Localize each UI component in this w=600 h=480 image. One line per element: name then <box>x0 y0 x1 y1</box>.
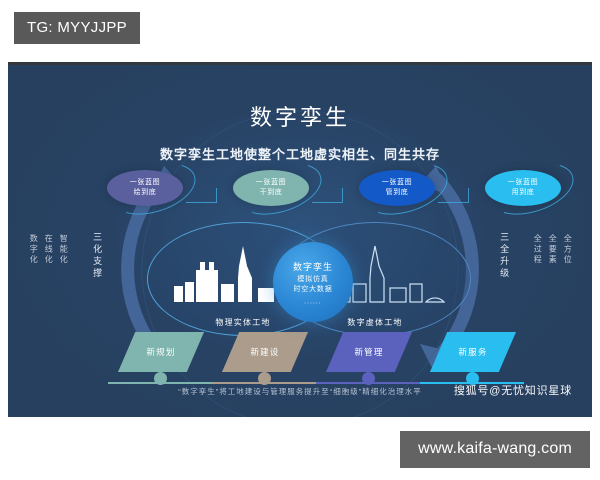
diamond-label-4: 新服务 <box>430 332 516 372</box>
pill-line-2: 绘到底 <box>134 188 157 198</box>
diamond-new-management[interactable]: 新管理 <box>320 332 416 388</box>
digital-twin-core[interactable]: 数字孪生 模拟仿真 时空大数据 •••••• <box>273 242 353 322</box>
page-title: 数字孪生 <box>8 100 592 132</box>
pill-blueprint-build[interactable]: 一张蓝图 干到底 <box>233 170 309 206</box>
left-axis-intelligent: 智能化 <box>56 234 71 266</box>
diamond-underline-1 <box>108 382 212 384</box>
website-url-badge: www.kaifa-wang.com <box>400 431 590 468</box>
infographic-poster: 数字孪生 数字孪生工地使整个工地虚实相生、同生共存 一张蓝图 绘到底 一张蓝图 … <box>8 62 592 417</box>
diamond-new-planning[interactable]: 新规划 <box>112 332 208 388</box>
diamond-underline-3 <box>316 382 420 384</box>
pill-line-1: 一张蓝图 <box>130 178 160 188</box>
author-watermark: 搜狐号@无忧知识星球 <box>454 382 572 398</box>
right-axis-all-around: 全方位 <box>560 234 575 266</box>
core-dots: •••••• <box>304 300 321 305</box>
poster-top-bar <box>8 62 592 65</box>
pill-line-2: 管到底 <box>386 188 409 198</box>
right-axis-whole-process: 全过程 <box>530 234 545 266</box>
tg-handle-badge: TG: MYYJJPP <box>14 12 140 44</box>
diamond-label-2: 新建设 <box>222 332 308 372</box>
pill-line-2: 干到底 <box>260 188 283 198</box>
pill-line-2: 用到底 <box>512 188 535 198</box>
diamond-new-service[interactable]: 新服务 <box>424 332 520 388</box>
core-title: 数字孪生 <box>293 260 333 273</box>
left-axis-online: 在线化 <box>41 234 56 266</box>
core-line-3: 时空大数据 <box>294 285 333 296</box>
right-axis-title: 三全升级 <box>495 232 512 280</box>
core-line-2: 模拟仿真 <box>297 275 328 286</box>
pill-line-1: 一张蓝图 <box>508 178 538 188</box>
pill-blueprint-draw[interactable]: 一张蓝图 绘到底 <box>107 170 183 206</box>
right-axis-all-elements: 全要素 <box>545 234 560 266</box>
pill-line-1: 一张蓝图 <box>382 178 412 188</box>
diamond-new-construction[interactable]: 新建设 <box>216 332 312 388</box>
pill-line-1: 一张蓝图 <box>256 178 286 188</box>
diamond-underline-2 <box>212 382 316 384</box>
pill-connector-3 <box>438 188 469 203</box>
pill-connector-1 <box>186 188 217 203</box>
page-subtitle: 数字孪生工地使整个工地虚实相生、同生共存 <box>8 144 592 163</box>
pill-connector-2 <box>312 188 343 203</box>
pill-blueprint-use[interactable]: 一张蓝图 用到底 <box>485 170 561 206</box>
left-axis-title: 三化支撑 <box>88 232 105 280</box>
diamond-label-3: 新管理 <box>326 332 412 372</box>
pill-blueprint-manage[interactable]: 一张蓝图 管到底 <box>359 170 435 206</box>
diamond-label-1: 新规划 <box>118 332 204 372</box>
left-axis-digitalization: 数字化 <box>26 234 41 266</box>
